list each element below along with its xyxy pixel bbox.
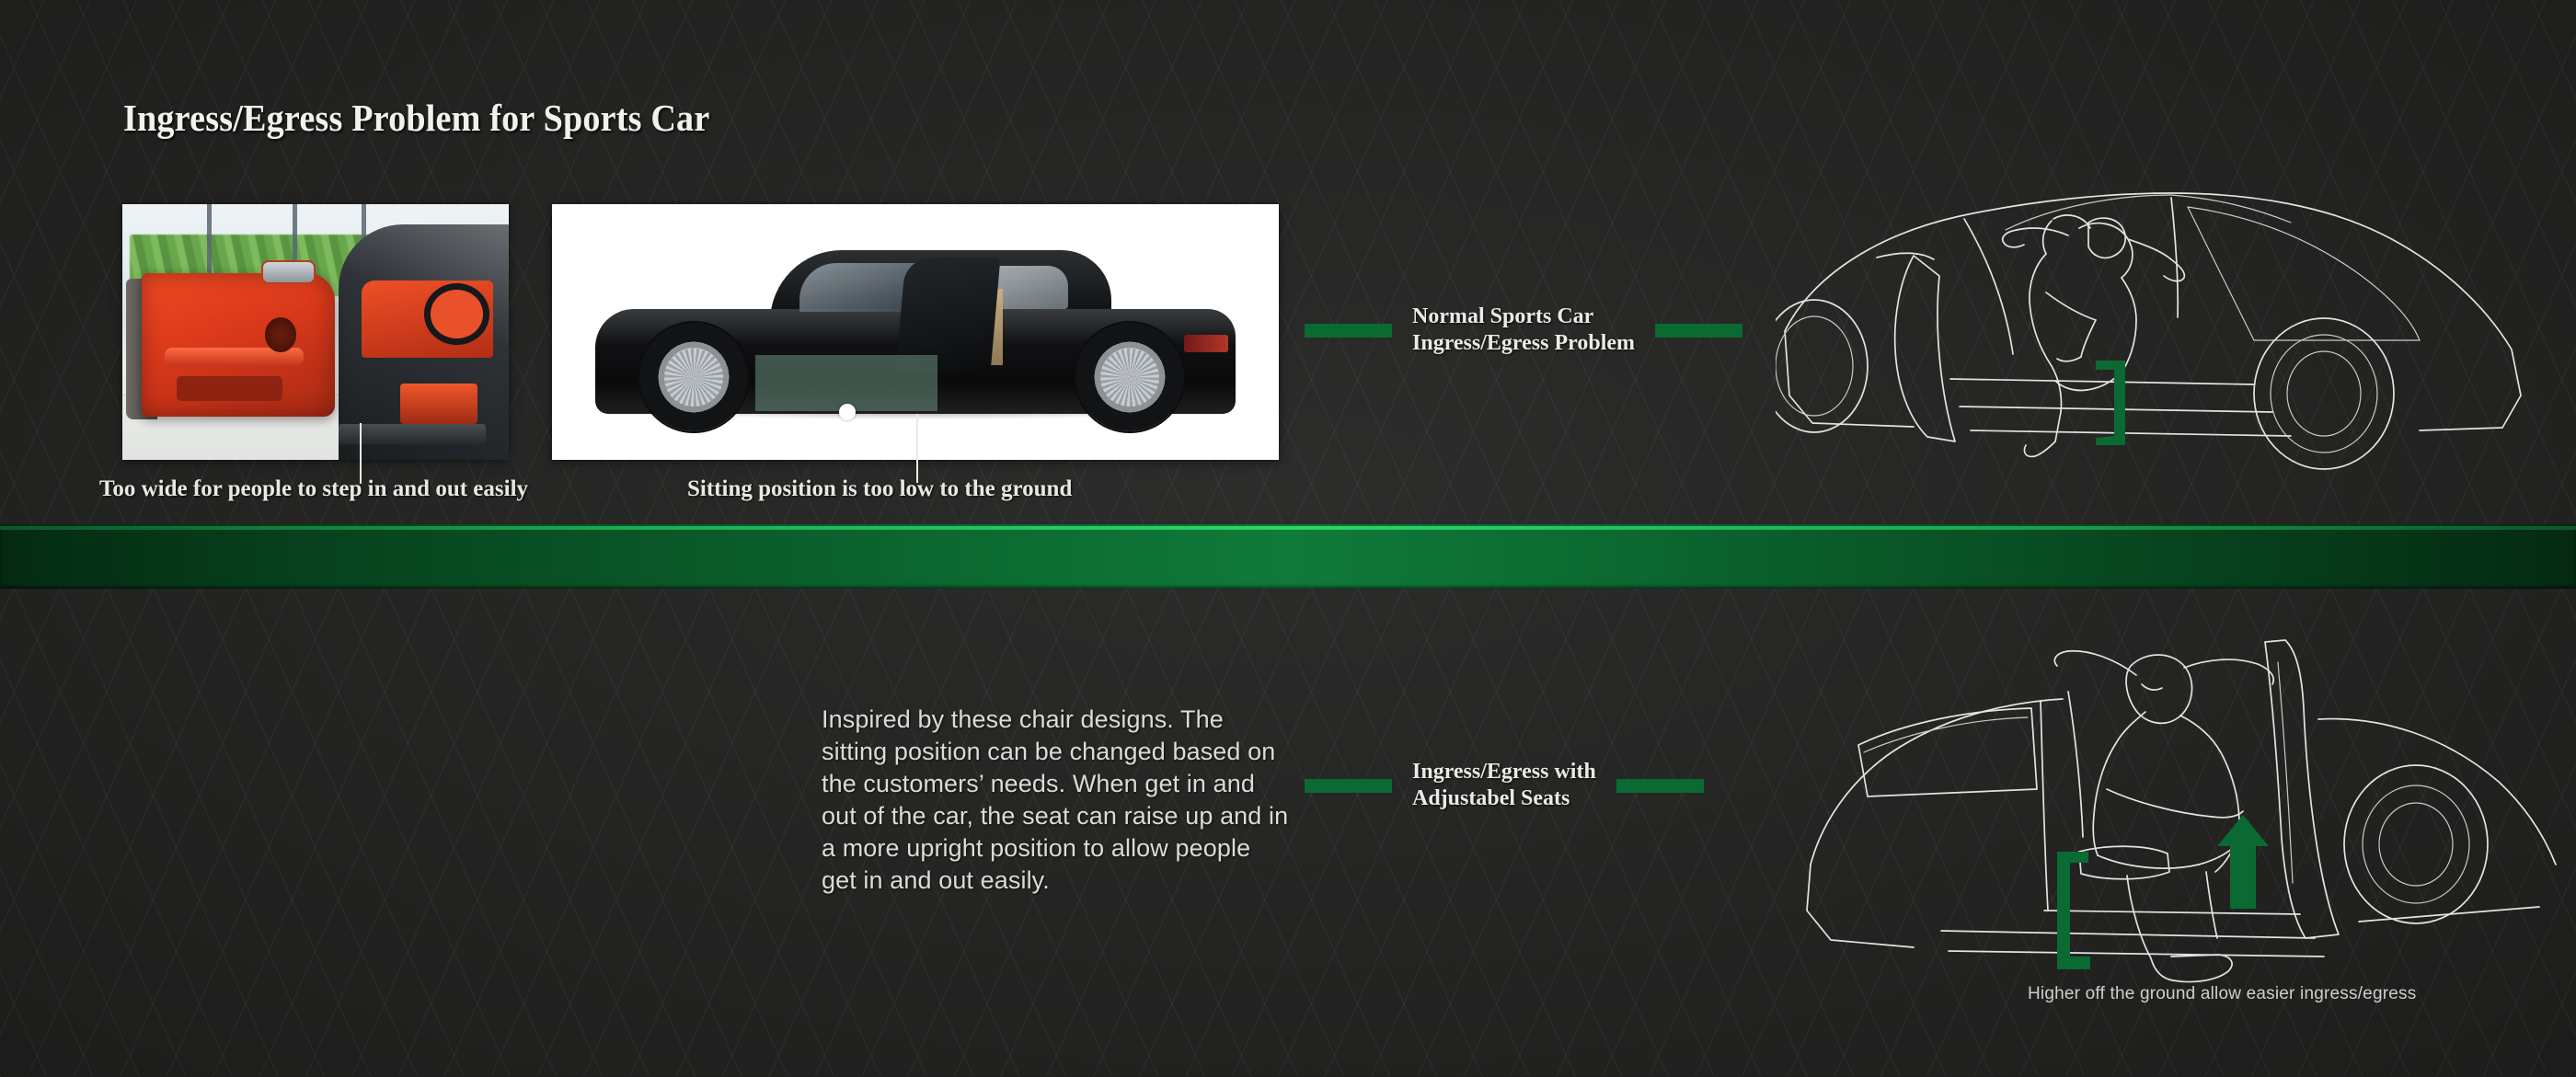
- callout-line-2: Ingress/Egress Problem: [1412, 331, 1635, 355]
- sill-height-highlight: [755, 355, 937, 411]
- caption-higher-off-ground: Higher off the ground allow easier ingre…: [2028, 984, 2416, 1004]
- callout-normal-sports-car: Normal Sports Car Ingress/Egress Problem: [1305, 304, 1742, 358]
- slide-canvas: Ingress/Egress Problem for Sports Car: [0, 0, 2576, 1077]
- callout-line-1: Normal Sports Car: [1412, 304, 1593, 328]
- dash-left-icon: [1305, 779, 1392, 793]
- photo-black-sports-car: [552, 204, 1279, 460]
- page-title: Ingress/Egress Problem for Sports Car: [123, 96, 709, 140]
- caption-sitting-too-low: Sitting position is too low to the groun…: [687, 476, 1072, 502]
- section-solution: Sleep Reclined TV UP Inspired by these c…: [0, 589, 2576, 1077]
- body-paragraph: Inspired by these chair designs. The sit…: [822, 704, 1291, 898]
- caption-door-too-wide: Too wide for people to step in and out e…: [99, 476, 528, 502]
- leader-line-door: [360, 423, 362, 484]
- dash-right-icon: [1616, 779, 1704, 793]
- dash-right-icon: [1655, 324, 1742, 338]
- section-problem: Ingress/Egress Problem for Sports Car: [0, 0, 2576, 524]
- callout-text: Normal Sports Car Ingress/Egress Problem: [1412, 304, 1635, 358]
- photo-open-car-door: [122, 204, 509, 460]
- callout-text: Ingress/Egress with Adjustabel Seats: [1412, 759, 1596, 813]
- divider-highlight-line: [0, 526, 2576, 530]
- dash-left-icon: [1305, 324, 1392, 338]
- callout-line-2: Adjustabel Seats: [1412, 786, 1570, 810]
- leader-line-sitting: [916, 414, 918, 483]
- callout-dot-marker: [839, 404, 856, 420]
- callout-adjustable-seats: Ingress/Egress with Adjustabel Seats: [1305, 759, 1704, 813]
- green-divider-band: [0, 524, 2576, 589]
- callout-line-1: Ingress/Egress with: [1412, 760, 1596, 784]
- sketch-raised-seat-egress: [1803, 635, 2567, 1003]
- sketch-low-car-egress: [1776, 120, 2558, 497]
